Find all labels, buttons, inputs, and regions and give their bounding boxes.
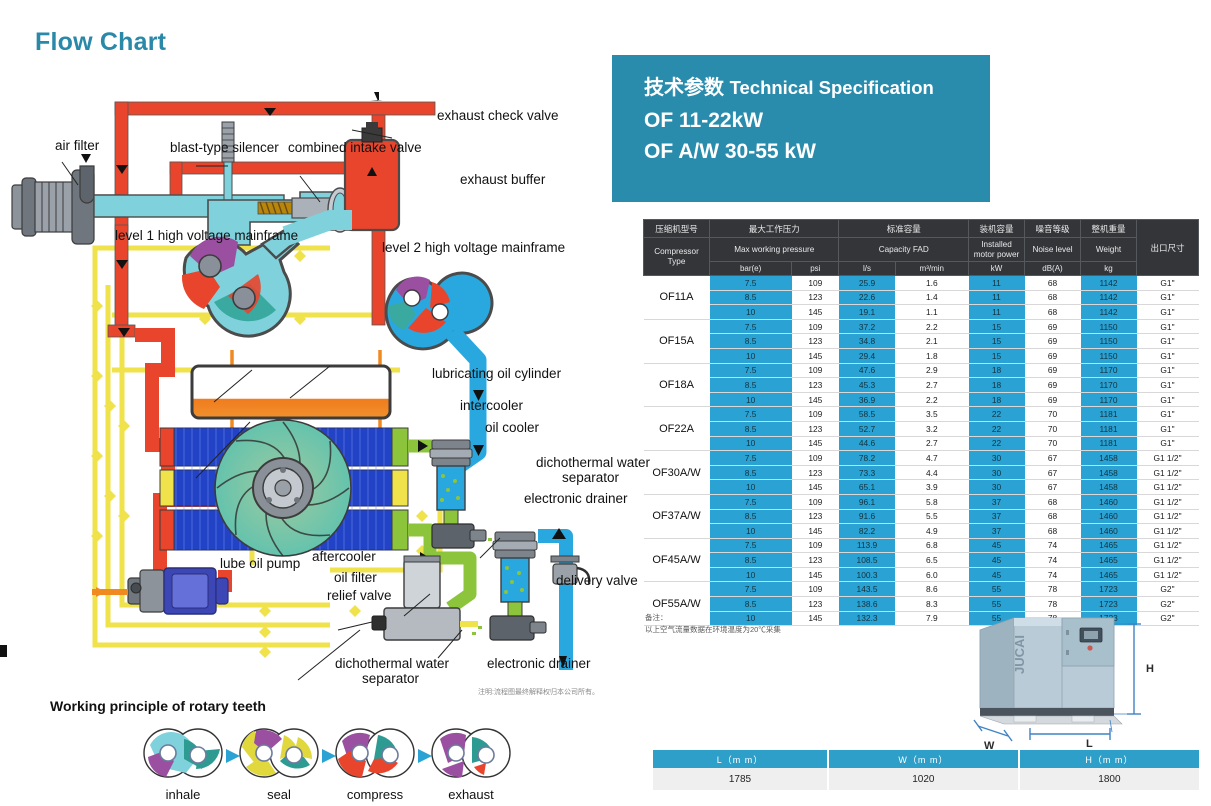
dim-value-l: 1785 bbox=[653, 768, 828, 790]
cell-ls: 58.5 bbox=[839, 407, 895, 422]
th-weight-en: Weight bbox=[1081, 238, 1137, 262]
table-row: 10145100.36.045741465G1 1/2" bbox=[644, 567, 1199, 582]
rotary-step-label: seal bbox=[236, 787, 322, 802]
cell-psi: 109 bbox=[792, 407, 839, 422]
cell-bar: 7.5 bbox=[710, 538, 792, 553]
th-model-cn: 压缩机型号 bbox=[644, 220, 710, 238]
rotary-step-label: compress bbox=[332, 787, 418, 802]
cell-outlet: G1 1/2" bbox=[1137, 567, 1199, 582]
table-row: 1014529.41.815691150G1" bbox=[644, 348, 1199, 363]
machine-brand-text: JUCAI bbox=[1012, 635, 1027, 674]
cell-kg: 1150 bbox=[1081, 334, 1137, 349]
cell-bar: 7.5 bbox=[710, 494, 792, 509]
cell-outlet: G2" bbox=[1137, 582, 1199, 597]
cell-kg: 1181 bbox=[1081, 407, 1137, 422]
cell-db: 70 bbox=[1025, 407, 1081, 422]
th-capacity-cn: 标准容量 bbox=[839, 220, 969, 238]
cell-kg: 1465 bbox=[1081, 538, 1137, 553]
cell-db: 70 bbox=[1025, 436, 1081, 451]
label-air-filter: air filter bbox=[55, 138, 99, 153]
cell-kw: 15 bbox=[969, 319, 1025, 334]
cell-bar: 7.5 bbox=[710, 407, 792, 422]
cell-psi: 123 bbox=[792, 597, 839, 612]
th-capacity-en: Capacity FAD bbox=[839, 238, 969, 262]
machine-dimension-illustration: JUCAI H L bbox=[962, 612, 1172, 752]
table-row: 8.512352.73.222701181G1" bbox=[644, 421, 1199, 436]
rotor-exhaust-icon bbox=[428, 725, 514, 781]
cell-kw: 18 bbox=[969, 363, 1025, 378]
cell-psi: 109 bbox=[792, 494, 839, 509]
rotary-steps-row: inhale seal bbox=[140, 725, 540, 803]
cell-kw: 22 bbox=[969, 407, 1025, 422]
cell-psi: 123 bbox=[792, 553, 839, 568]
label-exhaust-buffer: exhaust buffer bbox=[460, 172, 545, 187]
spec-banner-title-en: Technical Specification bbox=[730, 77, 934, 98]
label-combined-intake-valve: combined intake valve bbox=[288, 140, 422, 155]
cell-kw: 22 bbox=[969, 421, 1025, 436]
cell-m3: 2.2 bbox=[895, 319, 968, 334]
table-row: OF11A7.510925.91.611681142G1" bbox=[644, 276, 1199, 291]
cell-bar: 8.5 bbox=[710, 597, 792, 612]
label-electronic-drainer-upper: electronic drainer bbox=[524, 491, 628, 506]
cell-outlet: G1 1/2" bbox=[1137, 524, 1199, 539]
cell-psi: 145 bbox=[792, 480, 839, 495]
cell-ls: 108.5 bbox=[839, 553, 895, 568]
cell-db: 69 bbox=[1025, 363, 1081, 378]
cell-bar: 8.5 bbox=[710, 334, 792, 349]
cell-kw: 30 bbox=[969, 465, 1025, 480]
table-row: OF55A/W7.5109143.58.655781723G2" bbox=[644, 582, 1199, 597]
cell-compressor-type: OF11A bbox=[644, 276, 710, 320]
cell-kg: 1181 bbox=[1081, 421, 1137, 436]
cell-outlet: G1 1/2" bbox=[1137, 553, 1199, 568]
cell-outlet: G1" bbox=[1137, 334, 1199, 349]
dim-value-w: 1020 bbox=[828, 768, 1019, 790]
th-unit-kw: kW bbox=[969, 262, 1025, 276]
cell-kw: 18 bbox=[969, 392, 1025, 407]
cell-ls: 91.6 bbox=[839, 509, 895, 524]
cell-ls: 138.6 bbox=[839, 597, 895, 612]
cell-psi: 109 bbox=[792, 276, 839, 291]
cell-psi: 145 bbox=[792, 392, 839, 407]
th-motor-cn: 装机容量 bbox=[969, 220, 1025, 238]
th-unit-bar: bar(e) bbox=[710, 262, 792, 276]
cell-ls: 36.9 bbox=[839, 392, 895, 407]
cell-db: 69 bbox=[1025, 319, 1081, 334]
cell-db: 78 bbox=[1025, 582, 1081, 597]
cell-m3: 4.4 bbox=[895, 465, 968, 480]
cell-outlet: G1" bbox=[1137, 319, 1199, 334]
rotor-seal-icon bbox=[236, 725, 322, 781]
cell-bar: 10 bbox=[710, 524, 792, 539]
cell-outlet: G1" bbox=[1137, 348, 1199, 363]
cell-kw: 15 bbox=[969, 348, 1025, 363]
cell-kw: 45 bbox=[969, 567, 1025, 582]
cell-kg: 1142 bbox=[1081, 276, 1137, 291]
cell-psi: 123 bbox=[792, 334, 839, 349]
cell-db: 69 bbox=[1025, 348, 1081, 363]
cell-outlet: G1" bbox=[1137, 290, 1199, 305]
table-row: 8.512391.65.537681460G1 1/2" bbox=[644, 509, 1199, 524]
cell-psi: 145 bbox=[792, 567, 839, 582]
label-dichothermal-water-separator-lower: dichothermal water bbox=[335, 656, 449, 671]
dim-th-h: H（m m） bbox=[1019, 750, 1199, 768]
cell-kg: 1458 bbox=[1081, 465, 1137, 480]
table-row: 1014565.13.930671458G1 1/2" bbox=[644, 480, 1199, 495]
electronic-drainer-lower bbox=[472, 616, 546, 640]
table-row: OF45A/W7.5109113.96.845741465G1 1/2" bbox=[644, 538, 1199, 553]
cell-kg: 1465 bbox=[1081, 553, 1137, 568]
cell-kg: 1170 bbox=[1081, 392, 1137, 407]
cell-bar: 7.5 bbox=[710, 451, 792, 466]
specification-table: 压缩机型号 最大工作压力 标准容量 装机容量 噪音等级 整机重量 出口尺寸 Co… bbox=[643, 219, 1199, 626]
cell-db: 74 bbox=[1025, 538, 1081, 553]
cell-outlet: G1" bbox=[1137, 305, 1199, 320]
th-noise-en: Noise level bbox=[1025, 238, 1081, 262]
spec-banner-title-cn: 技术参数 bbox=[644, 77, 724, 99]
label-oil-cooler: oil cooler bbox=[485, 420, 539, 435]
cell-bar: 7.5 bbox=[710, 319, 792, 334]
remark-note: 备注： 以上空气流量数据在环境温度为20℃采集 bbox=[645, 612, 781, 636]
label-dichothermal-water-separator-upper: dichothermal water bbox=[536, 455, 650, 470]
cell-bar: 10 bbox=[710, 436, 792, 451]
cell-psi: 109 bbox=[792, 451, 839, 466]
cell-kg: 1458 bbox=[1081, 451, 1137, 466]
cell-psi: 123 bbox=[792, 509, 839, 524]
th-weight-cn: 整机重量 bbox=[1081, 220, 1137, 238]
cell-kw: 11 bbox=[969, 305, 1025, 320]
cell-ls: 113.9 bbox=[839, 538, 895, 553]
cell-kg: 1170 bbox=[1081, 378, 1137, 393]
spec-banner: 技术参数 Technical Specification OF 11-22kW … bbox=[612, 55, 990, 202]
cell-bar: 8.5 bbox=[710, 553, 792, 568]
lube-oil-pump-unit bbox=[128, 568, 228, 614]
th-motor-en: Installed motor power bbox=[969, 238, 1025, 262]
cell-bar: 8.5 bbox=[710, 465, 792, 480]
spec-banner-model-2: OF A/W 30-55 kW bbox=[644, 136, 990, 167]
rotary-step-seal: seal bbox=[236, 725, 322, 802]
aftercooler-unit bbox=[160, 420, 408, 556]
label-exhaust-check-valve: exhaust check valve bbox=[437, 108, 559, 123]
table-row: 8.512334.82.115691150G1" bbox=[644, 334, 1199, 349]
dimension-table: L（m m） W（m m） H（m m） 1785 1020 1800 bbox=[653, 750, 1199, 790]
cell-db: 67 bbox=[1025, 451, 1081, 466]
rotary-step-exhaust: exhaust bbox=[428, 725, 514, 802]
cell-outlet: G1" bbox=[1137, 363, 1199, 378]
table-row: OF30A/W7.510978.24.730671458G1 1/2" bbox=[644, 451, 1199, 466]
air-filter-unit bbox=[12, 144, 120, 244]
cell-outlet: G1 1/2" bbox=[1137, 451, 1199, 466]
label-lubricating-oil-cylinder: lubricating oil cylinder bbox=[432, 366, 561, 381]
cell-psi: 123 bbox=[792, 378, 839, 393]
table-row: OF15A7.510937.22.215691150G1" bbox=[644, 319, 1199, 334]
remark-line-2: 以上空气流量数据在环境温度为20℃采集 bbox=[645, 624, 781, 636]
cell-kg: 1170 bbox=[1081, 363, 1137, 378]
label-level-2-mainframe: level 2 high voltage mainframe bbox=[382, 240, 565, 255]
cell-kg: 1723 bbox=[1081, 597, 1137, 612]
flow-chart-diagram: air filter blast-type silencer combined … bbox=[0, 70, 620, 700]
cell-kw: 30 bbox=[969, 480, 1025, 495]
cell-kw: 45 bbox=[969, 538, 1025, 553]
cell-psi: 145 bbox=[792, 348, 839, 363]
cell-db: 68 bbox=[1025, 509, 1081, 524]
rotary-step-compress: compress bbox=[332, 725, 418, 802]
cell-ls: 78.2 bbox=[839, 451, 895, 466]
cell-m3: 2.1 bbox=[895, 334, 968, 349]
cell-ls: 44.6 bbox=[839, 436, 895, 451]
rotary-step-inhale: inhale bbox=[140, 725, 226, 802]
cell-bar: 7.5 bbox=[710, 582, 792, 597]
page-title: Flow Chart bbox=[35, 28, 166, 57]
cell-db: 68 bbox=[1025, 290, 1081, 305]
cell-outlet: G1 1/2" bbox=[1137, 538, 1199, 553]
cell-db: 74 bbox=[1025, 553, 1081, 568]
cell-outlet: G1" bbox=[1137, 421, 1199, 436]
cell-m3: 6.0 bbox=[895, 567, 968, 582]
cell-bar: 10 bbox=[710, 348, 792, 363]
th-model-en: Compressor Type bbox=[644, 238, 710, 276]
cell-bar: 8.5 bbox=[710, 378, 792, 393]
cell-ls: 22.6 bbox=[839, 290, 895, 305]
cell-psi: 109 bbox=[792, 538, 839, 553]
th-unit-kg: kg bbox=[1081, 262, 1137, 276]
spec-table-body: OF11A7.510925.91.611681142G1"8.512322.61… bbox=[644, 276, 1199, 626]
table-row: 1014582.24.937681460G1 1/2" bbox=[644, 524, 1199, 539]
dim-th-w: W（m m） bbox=[828, 750, 1019, 768]
cell-bar: 10 bbox=[710, 567, 792, 582]
cell-kw: 11 bbox=[969, 276, 1025, 291]
table-row: OF37A/W7.510996.15.837681460G1 1/2" bbox=[644, 494, 1199, 509]
cell-outlet: G1 1/2" bbox=[1137, 509, 1199, 524]
cell-kg: 1150 bbox=[1081, 348, 1137, 363]
table-row: OF18A7.510947.62.918691170G1" bbox=[644, 363, 1199, 378]
cell-m3: 5.8 bbox=[895, 494, 968, 509]
cell-bar: 8.5 bbox=[710, 290, 792, 305]
rotary-disclaimer-note: 注明:流程图最终解释权归本公司所有。 bbox=[478, 687, 599, 697]
cell-db: 68 bbox=[1025, 524, 1081, 539]
cell-m3: 5.5 bbox=[895, 509, 968, 524]
cell-db: 68 bbox=[1025, 305, 1081, 320]
label-dichothermal-water-separator-lower-2: separator bbox=[362, 671, 419, 686]
lubricating-oil-cylinder-unit bbox=[192, 366, 390, 418]
cell-kg: 1723 bbox=[1081, 582, 1137, 597]
cell-kw: 22 bbox=[969, 436, 1025, 451]
cell-kw: 15 bbox=[969, 334, 1025, 349]
cell-ls: 45.3 bbox=[839, 378, 895, 393]
machine-svg: JUCAI H L bbox=[962, 612, 1172, 752]
cell-m3: 3.5 bbox=[895, 407, 968, 422]
cell-db: 68 bbox=[1025, 276, 1081, 291]
cell-kg: 1460 bbox=[1081, 509, 1137, 524]
cell-ls: 47.6 bbox=[839, 363, 895, 378]
label-oil-filter: oil filter bbox=[334, 570, 377, 585]
th-unit-psi: psi bbox=[792, 262, 839, 276]
cell-m3: 6.5 bbox=[895, 553, 968, 568]
cell-kw: 37 bbox=[969, 509, 1025, 524]
cell-kg: 1465 bbox=[1081, 567, 1137, 582]
cell-outlet: G1 1/2" bbox=[1137, 465, 1199, 480]
cell-outlet: G1 1/2" bbox=[1137, 494, 1199, 509]
label-aftercooler: aftercooler bbox=[312, 549, 376, 564]
cell-bar: 8.5 bbox=[710, 509, 792, 524]
remark-line-1: 备注： bbox=[645, 612, 781, 624]
cell-outlet: G1" bbox=[1137, 392, 1199, 407]
cell-ls: 25.9 bbox=[839, 276, 895, 291]
cell-kg: 1460 bbox=[1081, 524, 1137, 539]
rotary-step-label: inhale bbox=[140, 787, 226, 802]
cell-psi: 145 bbox=[792, 305, 839, 320]
dim-value-h: 1800 bbox=[1019, 768, 1199, 790]
level2-mainframe-unit bbox=[386, 273, 492, 349]
th-pressure-en: Max working pressure bbox=[710, 238, 839, 262]
cell-ls: 29.4 bbox=[839, 348, 895, 363]
cell-bar: 7.5 bbox=[710, 363, 792, 378]
th-pressure-cn: 最大工作压力 bbox=[710, 220, 839, 238]
cell-bar: 10 bbox=[710, 480, 792, 495]
cell-m3: 7.9 bbox=[895, 611, 968, 626]
table-row: 1014519.11.111681142G1" bbox=[644, 305, 1199, 320]
dimension-table-header-row: L（m m） W（m m） H（m m） bbox=[653, 750, 1199, 768]
label-lube-oil-pump: lube oil pump bbox=[220, 556, 300, 571]
cell-m3: 1.8 bbox=[895, 348, 968, 363]
cell-ls: 52.7 bbox=[839, 421, 895, 436]
th-unit-db: dB(A) bbox=[1025, 262, 1081, 276]
spec-banner-model-1: OF 11-22kW bbox=[644, 105, 990, 136]
dichothermal-water-separator-upper bbox=[430, 440, 472, 524]
label-dichothermal-water-separator-upper-2: separator bbox=[562, 470, 619, 485]
cell-psi: 123 bbox=[792, 290, 839, 305]
cell-outlet: G2" bbox=[1137, 597, 1199, 612]
cell-ls: 100.3 bbox=[839, 567, 895, 582]
dimension-h-label: H bbox=[1146, 663, 1154, 675]
rotary-principle-title: Working principle of rotary teeth bbox=[50, 698, 266, 714]
th-noise-cn: 噪音等级 bbox=[1025, 220, 1081, 238]
cell-m3: 3.2 bbox=[895, 421, 968, 436]
cell-compressor-type: OF15A bbox=[644, 319, 710, 363]
table-row: 8.5123138.68.355781723G2" bbox=[644, 597, 1199, 612]
label-delivery-valve: delivery valve bbox=[556, 573, 638, 588]
cell-m3: 3.9 bbox=[895, 480, 968, 495]
cell-compressor-type: OF18A bbox=[644, 363, 710, 407]
dimension-l-label: L bbox=[1086, 738, 1093, 750]
cell-m3: 4.9 bbox=[895, 524, 968, 539]
cell-compressor-type: OF30A/W bbox=[644, 451, 710, 495]
blast-type-silencer-unit bbox=[222, 122, 234, 204]
cell-compressor-type: OF37A/W bbox=[644, 494, 710, 538]
cell-psi: 109 bbox=[792, 363, 839, 378]
label-relief-valve: relief valve bbox=[327, 588, 392, 603]
cell-psi: 145 bbox=[792, 611, 839, 626]
cell-m3: 2.7 bbox=[895, 436, 968, 451]
cell-m3: 1.4 bbox=[895, 290, 968, 305]
label-level-1-mainframe: level 1 high voltage mainframe bbox=[115, 228, 298, 243]
rotor-inhale-icon bbox=[140, 725, 226, 781]
label-intercooler: intercooler bbox=[460, 398, 523, 413]
cell-compressor-type: OF45A/W bbox=[644, 538, 710, 582]
table-row: 1014536.92.218691170G1" bbox=[644, 392, 1199, 407]
cell-kw: 37 bbox=[969, 524, 1025, 539]
cell-db: 67 bbox=[1025, 480, 1081, 495]
flow-chart-svg bbox=[0, 70, 620, 700]
cell-ls: 73.3 bbox=[839, 465, 895, 480]
dimension-table-value-row: 1785 1020 1800 bbox=[653, 768, 1199, 790]
table-row: 8.512322.61.411681142G1" bbox=[644, 290, 1199, 305]
cell-db: 69 bbox=[1025, 392, 1081, 407]
cell-kg: 1150 bbox=[1081, 319, 1137, 334]
cell-psi: 109 bbox=[792, 582, 839, 597]
dim-th-l: L（m m） bbox=[653, 750, 828, 768]
table-row: OF22A7.510958.53.522701181G1" bbox=[644, 407, 1199, 422]
label-electronic-drainer-lower: electronic drainer bbox=[487, 656, 591, 671]
cell-m3: 4.7 bbox=[895, 451, 968, 466]
cell-kg: 1181 bbox=[1081, 436, 1137, 451]
cell-compressor-type: OF22A bbox=[644, 407, 710, 451]
cell-ls: 34.8 bbox=[839, 334, 895, 349]
cell-kw: 11 bbox=[969, 290, 1025, 305]
cell-m3: 6.8 bbox=[895, 538, 968, 553]
relief-valve-port bbox=[372, 616, 386, 630]
cell-bar: 10 bbox=[710, 392, 792, 407]
th-unit-m3: m³/min bbox=[895, 262, 968, 276]
cell-ls: 96.1 bbox=[839, 494, 895, 509]
table-row: 8.512345.32.718691170G1" bbox=[644, 378, 1199, 393]
cell-m3: 8.3 bbox=[895, 597, 968, 612]
dichothermal-water-separator-lower bbox=[493, 532, 537, 616]
cell-ls: 143.5 bbox=[839, 582, 895, 597]
electronic-drainer-upper bbox=[432, 524, 498, 548]
cell-ls: 37.2 bbox=[839, 319, 895, 334]
page-root: Flow Chart bbox=[0, 0, 1211, 806]
cell-m3: 2.2 bbox=[895, 392, 968, 407]
cell-psi: 109 bbox=[792, 319, 839, 334]
cell-bar: 8.5 bbox=[710, 421, 792, 436]
cell-outlet: G1 1/2" bbox=[1137, 480, 1199, 495]
rotor-compress-icon bbox=[332, 725, 418, 781]
cell-db: 69 bbox=[1025, 378, 1081, 393]
table-row: 1014544.62.722701181G1" bbox=[644, 436, 1199, 451]
cell-m3: 2.9 bbox=[895, 363, 968, 378]
cell-psi: 123 bbox=[792, 465, 839, 480]
spec-table-head: 压缩机型号 最大工作压力 标准容量 装机容量 噪音等级 整机重量 出口尺寸 Co… bbox=[644, 220, 1199, 276]
cell-kw: 55 bbox=[969, 582, 1025, 597]
cell-m3: 1.6 bbox=[895, 276, 968, 291]
cell-db: 70 bbox=[1025, 421, 1081, 436]
cell-db: 74 bbox=[1025, 567, 1081, 582]
cell-db: 78 bbox=[1025, 597, 1081, 612]
dimension-h-line bbox=[1114, 624, 1141, 714]
cell-kw: 18 bbox=[969, 378, 1025, 393]
cell-ls: 82.2 bbox=[839, 524, 895, 539]
cell-kw: 30 bbox=[969, 451, 1025, 466]
cell-kw: 55 bbox=[969, 597, 1025, 612]
cell-kg: 1460 bbox=[1081, 494, 1137, 509]
cell-outlet: G1" bbox=[1137, 276, 1199, 291]
label-blast-type-silencer: blast-type silencer bbox=[170, 140, 279, 155]
cell-kw: 37 bbox=[969, 494, 1025, 509]
cell-kw: 45 bbox=[969, 553, 1025, 568]
cell-psi: 145 bbox=[792, 436, 839, 451]
cell-ls: 65.1 bbox=[839, 480, 895, 495]
cell-bar: 10 bbox=[710, 305, 792, 320]
cell-m3: 2.7 bbox=[895, 378, 968, 393]
cell-psi: 145 bbox=[792, 524, 839, 539]
cell-bar: 7.5 bbox=[710, 276, 792, 291]
cell-ls: 19.1 bbox=[839, 305, 895, 320]
cell-ls: 132.3 bbox=[839, 611, 895, 626]
cell-outlet: G1" bbox=[1137, 436, 1199, 451]
table-row: 8.512373.34.430671458G1 1/2" bbox=[644, 465, 1199, 480]
cell-outlet: G1" bbox=[1137, 378, 1199, 393]
